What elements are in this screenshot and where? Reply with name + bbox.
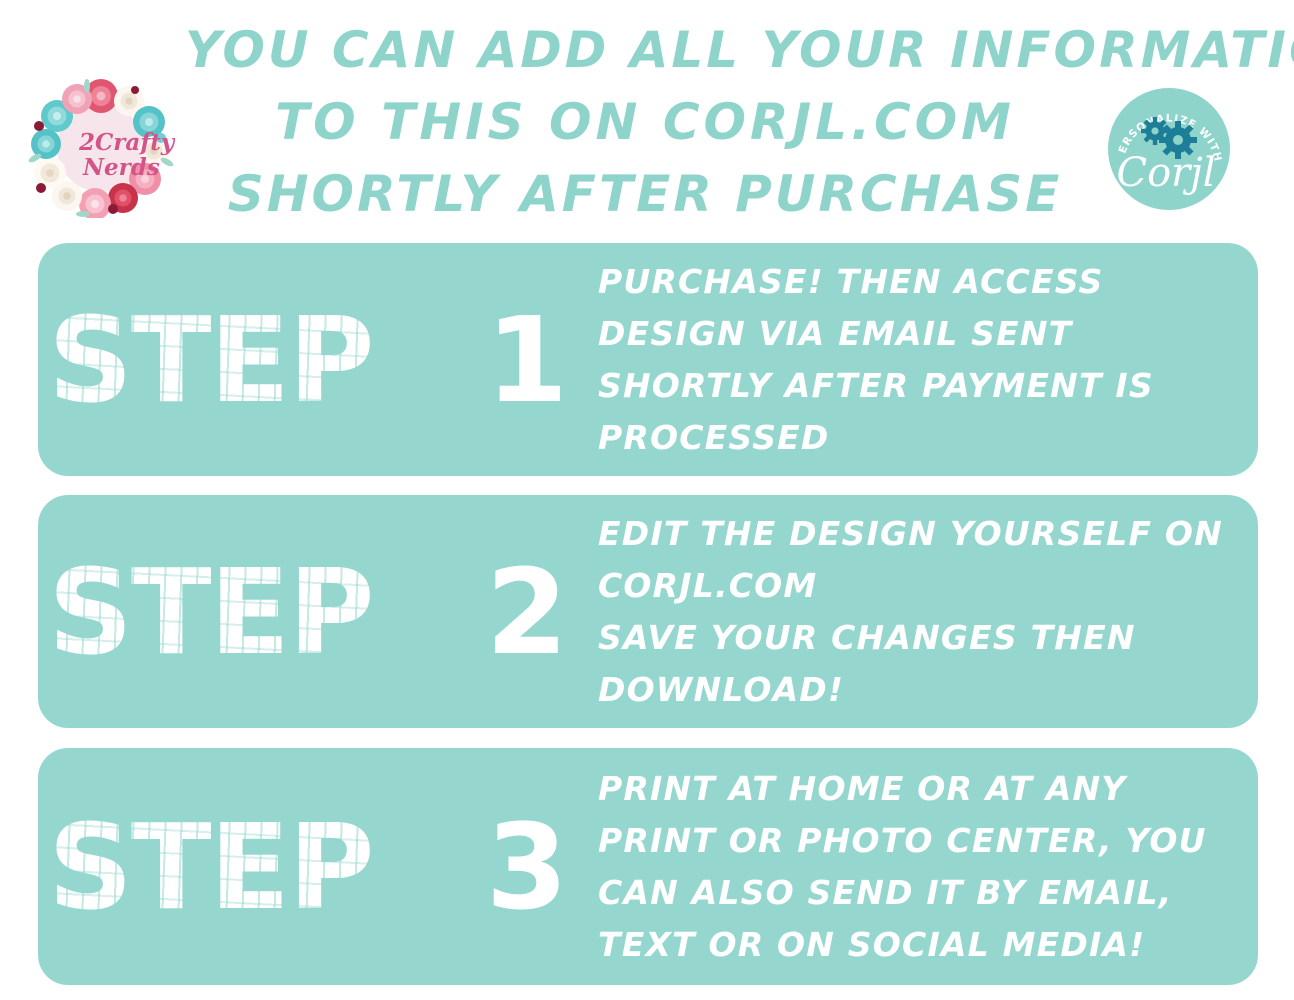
step-3-body-line-2: PRINT OR PHOTO CENTER, YOU (598, 815, 1240, 867)
logo-text-line1: 2Crafty (78, 129, 175, 156)
step-panel-3: STEP 3 PRINT AT HOME OR AT ANY PRINT OR … (38, 748, 1258, 985)
step-1-word: STEP (48, 301, 373, 419)
personalize-with-corjl-icon: PERSONALIZE WITH (1108, 88, 1230, 210)
step-1-label: STEP 1 (38, 301, 598, 419)
brand-logo: 2Crafty Nerds (27, 78, 175, 218)
step-3-label: STEP 3 (38, 808, 598, 926)
step-1-body: PURCHASE! THEN ACCESS DESIGN VIA EMAIL S… (598, 256, 1258, 464)
step-2-body-line-4: DOWNLOAD! (598, 664, 1240, 716)
step-2-body: EDIT THE DESIGN YOURSELF ON CORJL.COM SA… (598, 508, 1258, 716)
page-title-line-2: TO THIS ON CORJL.COM (185, 86, 1105, 158)
step-3-body-line-3: CAN ALSO SEND IT BY EMAIL, (598, 867, 1240, 919)
step-2-label: STEP 2 (38, 553, 598, 671)
step-1-body-line-3: SHORTLY AFTER PAYMENT IS (598, 360, 1240, 412)
step-1-word-text: STEP (48, 291, 373, 429)
page-title: YOU CAN ADD ALL YOUR INFORMATION TO THIS… (185, 14, 1105, 230)
step-2-number: 2 (486, 553, 568, 671)
step-3-body-line-1: PRINT AT HOME OR AT ANY (598, 763, 1240, 815)
logo-text-line2: Nerds (82, 154, 160, 181)
step-2-word: STEP (48, 553, 373, 671)
badge-brand-text: Corjl (1116, 150, 1215, 196)
step-2-number-text: 2 (486, 543, 568, 681)
step-1-body-line-4: PROCESSED (598, 412, 1240, 464)
floral-wreath-icon: 2Crafty Nerds (27, 78, 175, 218)
step-2-body-line-2: CORJL.COM (598, 560, 1240, 612)
page-title-line-3: SHORTLY AFTER PURCHASE (185, 158, 1105, 230)
step-1-number-text: 1 (486, 291, 568, 429)
step-3-body-line-4: TEXT OR ON SOCIAL MEDIA! (598, 919, 1240, 971)
step-3-word: STEP (48, 808, 373, 926)
step-2-body-line-1: EDIT THE DESIGN YOURSELF ON (598, 508, 1240, 560)
step-3-word-text: STEP (48, 798, 373, 936)
step-3-number: 3 (486, 808, 568, 926)
step-1-body-line-2: DESIGN VIA EMAIL SENT (598, 308, 1240, 360)
step-2-word-text: STEP (48, 543, 373, 681)
step-panel-2: STEP 2 EDIT THE DESIGN YOURSELF ON CORJL… (38, 495, 1258, 728)
step-1-body-line-1: PURCHASE! THEN ACCESS (598, 256, 1240, 308)
step-2-body-line-3: SAVE YOUR CHANGES THEN (598, 612, 1240, 664)
step-3-body: PRINT AT HOME OR AT ANY PRINT OR PHOTO C… (598, 763, 1258, 971)
corjl-badge: PERSONALIZE WITH (1108, 88, 1230, 210)
step-panel-1: STEP 1 PURCHASE! THEN ACCESS DESIGN VIA … (38, 243, 1258, 476)
page-title-line-1: YOU CAN ADD ALL YOUR INFORMATION (185, 14, 1105, 86)
header: 2Crafty Nerds YOU CAN ADD ALL YOUR INFOR… (0, 0, 1294, 243)
step-1-number: 1 (486, 301, 568, 419)
step-3-number-text: 3 (486, 798, 568, 936)
